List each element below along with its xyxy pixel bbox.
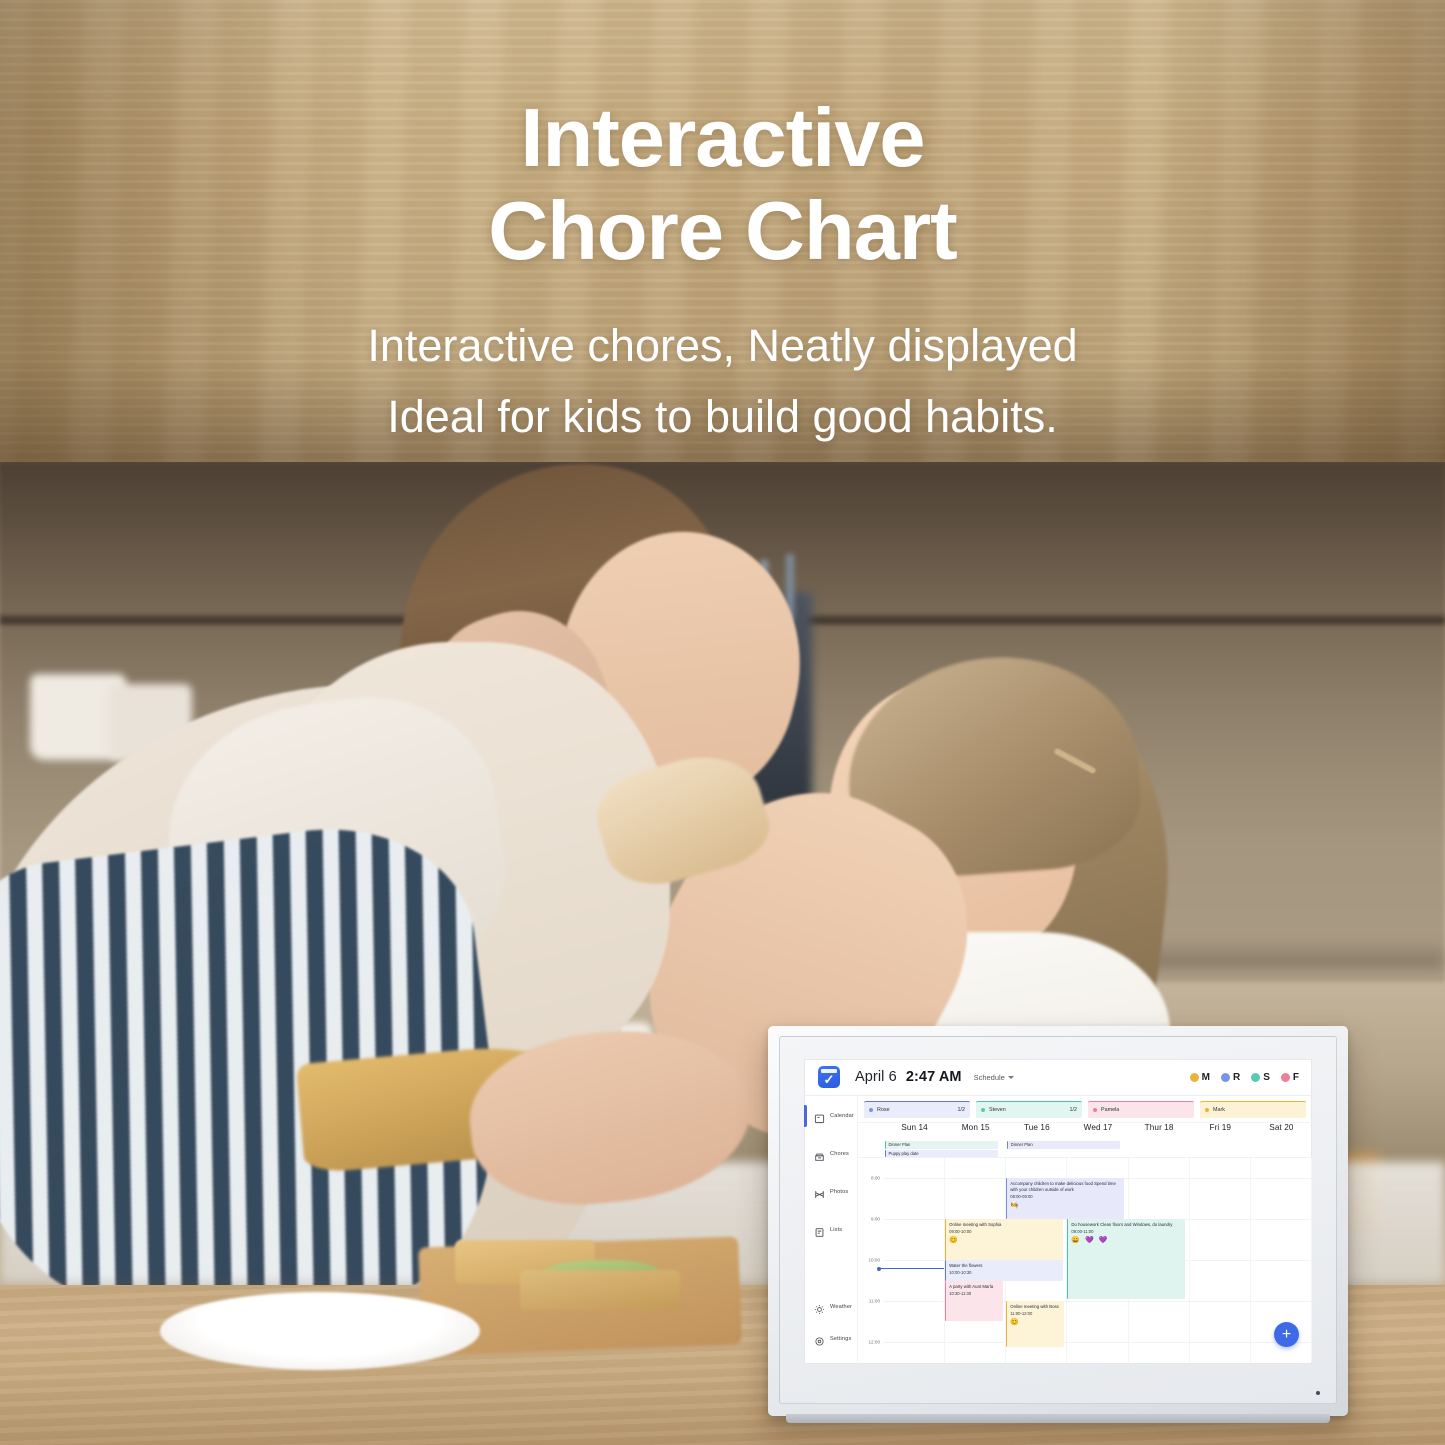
day-column-header[interactable]: Sun 14 <box>884 1123 945 1140</box>
sidebar-item-label: Lists <box>830 1227 842 1233</box>
day-grid-column[interactable] <box>1251 1158 1312 1362</box>
sidebar-item-label: Photos <box>830 1189 848 1195</box>
sidebar-item-calendar[interactable]: Calendar <box>804 1103 857 1129</box>
tablet-stand <box>786 1414 1330 1423</box>
chevron-down-icon <box>1008 1076 1014 1079</box>
member-dot <box>1205 1108 1209 1112</box>
event-time: 10:30-11:30 <box>949 1291 1000 1297</box>
avatar-initial: F <box>1293 1072 1299 1083</box>
time-axis: 8:009:0010:0011:0012:00 <box>858 1158 884 1362</box>
day-column-header[interactable]: Tue 16 <box>1006 1123 1067 1140</box>
day-grid-column[interactable]: Do housework Clean floors and Windows, d… <box>1067 1158 1128 1362</box>
chore-chip-steven[interactable]: Steven1/2 <box>976 1101 1082 1118</box>
member-dot <box>1093 1108 1097 1112</box>
time-grid: 8:009:0010:0011:0012:00 Online meeting w… <box>858 1158 1312 1362</box>
sidebar-item-label: Settings <box>830 1336 851 1342</box>
sidebar-item-label: Calendar <box>830 1113 854 1119</box>
day-column-header[interactable]: Thur 18 <box>1129 1123 1190 1140</box>
avatar[interactable]: F <box>1281 1072 1299 1083</box>
day-grid-column[interactable]: Accompany children to make delicious foo… <box>1006 1158 1067 1362</box>
day-column-header[interactable]: Mon 15 <box>945 1123 1006 1140</box>
headline-line-2: Chore Chart <box>0 189 1445 272</box>
avatar-dot <box>1251 1073 1260 1082</box>
calendar-view: Sun 14Mon 15Tue 16Wed 17Thur 18Fri 19Sat… <box>858 1123 1312 1364</box>
headline-line-1: Interactive <box>0 96 1445 179</box>
time-label: 8:00 <box>871 1176 880 1181</box>
day-header-row: Sun 14Mon 15Tue 16Wed 17Thur 18Fri 19Sat… <box>858 1123 1312 1140</box>
app-sidebar: CalendarChoresPhotosListsWeatherSettings <box>804 1096 858 1364</box>
day-column-header[interactable]: Sat 20 <box>1251 1123 1312 1140</box>
calendar-event[interactable]: A party with Aunt Marla10:30-11:30 <box>945 1281 1003 1321</box>
chore-chip-pamela[interactable]: Pamela <box>1088 1101 1194 1118</box>
sidebar-item-chores[interactable]: Chores <box>804 1141 857 1167</box>
day-grid-column[interactable]: Online meeting with Sophia09:00-10:00😊Wa… <box>945 1158 1006 1362</box>
all-day-column: Dinner PlanPuppy play date <box>884 1140 945 1157</box>
event-emoji: 😊 <box>1010 1319 1061 1326</box>
toast-slice <box>520 1270 680 1310</box>
chore-chip-name: Steven <box>989 1107 1006 1113</box>
day-column-header[interactable]: Fri 19 <box>1190 1123 1251 1140</box>
all-day-column <box>1129 1140 1190 1157</box>
avatar-initial: M <box>1202 1072 1210 1083</box>
avatar-initial: S <box>1263 1072 1270 1083</box>
banner-copy: Interactive Chore Chart Interactive chor… <box>0 96 1445 452</box>
all-day-column <box>945 1140 1006 1157</box>
chore-chip-rose[interactable]: Rose1/2 <box>864 1101 970 1118</box>
time-label: 10:00 <box>869 1258 881 1263</box>
chores-icon <box>814 1149 825 1160</box>
sidebar-item-label: Weather <box>830 1304 852 1310</box>
calendar-event[interactable]: Online meeting with Boss11:00-12:00😊 <box>1006 1301 1064 1347</box>
lists-icon <box>814 1225 825 1236</box>
event-time: 11:00-12:00 <box>1010 1311 1061 1317</box>
avatar[interactable]: S <box>1251 1072 1270 1083</box>
avatar-dot <box>1221 1073 1230 1082</box>
subtitle-line-2: Ideal for kids to build good habits. <box>0 381 1445 452</box>
smart-calendar-tablet: April 6 2:47 AM Schedule MRSF CalendarCh… <box>768 1026 1348 1416</box>
current-time-dot <box>877 1267 881 1271</box>
avatar[interactable]: M <box>1190 1072 1210 1083</box>
sidebar-item-label: Chores <box>830 1151 849 1157</box>
avatar-dot <box>1190 1073 1199 1082</box>
photos-icon <box>814 1187 825 1198</box>
chore-chip-mark[interactable]: Mark <box>1200 1101 1306 1118</box>
grid-columns: Online meeting with Sophia09:00-10:00😊Wa… <box>884 1158 1312 1362</box>
chore-chip-name: Mark <box>1213 1107 1225 1113</box>
gear-icon <box>814 1334 825 1345</box>
camera-indicator-icon <box>1316 1391 1320 1395</box>
view-selector-label: Schedule <box>974 1073 1005 1082</box>
event-title: A party with Aunt Marla <box>949 1284 1000 1290</box>
sidebar-item-lists[interactable]: Lists <box>804 1217 857 1243</box>
day-grid-column[interactable] <box>1190 1158 1251 1362</box>
avatar-initial: R <box>1233 1072 1240 1083</box>
day-grid-column[interactable] <box>1129 1158 1190 1362</box>
avatar[interactable]: R <box>1221 1072 1240 1083</box>
current-date: April 6 <box>855 1069 897 1085</box>
current-time: 2:47 AM <box>906 1069 962 1085</box>
chore-chip-progress: 1/2 <box>1070 1107 1078 1113</box>
time-label: 12:00 <box>869 1340 881 1345</box>
day-column-header[interactable]: Wed 17 <box>1067 1123 1128 1140</box>
member-dot <box>869 1108 873 1112</box>
all-day-column <box>1190 1140 1251 1157</box>
sun-icon <box>814 1302 825 1313</box>
member-dot <box>981 1108 985 1112</box>
sidebar-item-settings[interactable]: Settings <box>804 1326 857 1352</box>
calendar-check-icon <box>818 1066 840 1088</box>
chore-chips-row: Rose1/2Steven1/2PamelaMark <box>858 1096 1312 1123</box>
time-label: 11:00 <box>869 1299 880 1304</box>
chore-chip-name: Pamela <box>1101 1107 1119 1113</box>
all-day-column: Dinner Plan <box>1006 1140 1067 1157</box>
sidebar-item-weather[interactable]: Weather <box>804 1294 857 1320</box>
hero-banner: Interactive Chore Chart Interactive chor… <box>0 0 1445 462</box>
day-grid-column[interactable] <box>884 1158 945 1362</box>
tablet-screen: April 6 2:47 AM Schedule MRSF CalendarCh… <box>804 1059 1312 1364</box>
all-day-column <box>1251 1140 1312 1157</box>
calendar-icon <box>814 1111 825 1122</box>
chore-chip-progress: 1/2 <box>958 1107 966 1113</box>
plate <box>160 1292 480 1370</box>
event-title: Online meeting with Boss <box>1010 1304 1061 1310</box>
view-selector[interactable]: Schedule <box>974 1073 1014 1082</box>
subtitle-line-1: Interactive chores, Neatly displayed <box>0 310 1445 381</box>
chore-chip-name: Rose <box>877 1107 890 1113</box>
avatar-dot <box>1281 1073 1290 1082</box>
all-day-row: Dinner PlanPuppy play dateDinner Plan <box>858 1140 1312 1158</box>
app-top-bar: April 6 2:47 AM Schedule MRSF <box>804 1059 1312 1096</box>
all-day-column <box>1067 1140 1128 1157</box>
member-avatars: MRSF <box>1190 1072 1299 1083</box>
time-label: 9:00 <box>871 1217 880 1222</box>
sidebar-item-photos[interactable]: Photos <box>804 1179 857 1205</box>
date-time-display: April 6 2:47 AM <box>855 1069 962 1085</box>
product-listing-image: Interactive Chore Chart Interactive chor… <box>0 0 1445 1445</box>
